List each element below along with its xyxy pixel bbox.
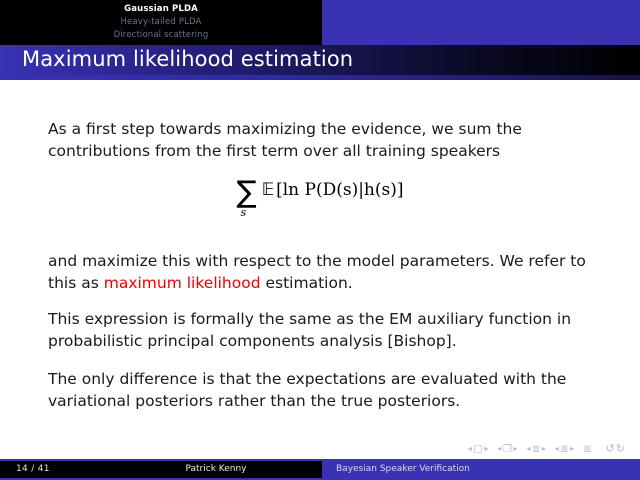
paragraph-maximize: and maximize this with respect to the mo… (48, 250, 588, 294)
next-slide-icon[interactable]: ▸ (484, 444, 488, 453)
nav-section-group[interactable]: ◂≣▸ (555, 440, 574, 459)
prev-slide-icon[interactable]: ◂ (468, 444, 472, 453)
next-frame-icon[interactable]: ▸ (513, 444, 517, 453)
summation-subscript: s (240, 206, 246, 219)
paragraph-em-auxiliary: This expression is formally the same as … (48, 308, 588, 352)
page-title: Maximum likelihood estimation (22, 47, 353, 71)
subsection-icon[interactable]: ≣ (532, 444, 540, 455)
beamer-navigation-symbols[interactable]: ◂□▸ ◂❐▸ ◂≣▸ ◂≣▸ ≣↺↻ (0, 440, 640, 458)
equation-body: [ln P(D(s)|h(s)] (276, 180, 403, 200)
document-icon[interactable]: ≣ (583, 441, 591, 459)
highlight-maximum-likelihood: maximum likelihood (104, 274, 261, 292)
footer-talk-title: Bayesian Speaker Verification (336, 464, 470, 474)
prev-frame-icon[interactable]: ◂ (497, 444, 501, 453)
forward-icon[interactable]: ↻ (616, 440, 626, 458)
back-icon[interactable]: ↺ (606, 440, 616, 458)
nav-slide-group[interactable]: ◂□▸ (468, 440, 488, 459)
sigma-icon: ∑ (236, 180, 256, 206)
nav-item-gaussian-plda[interactable]: Gaussian PLDA (0, 3, 322, 16)
expectation-symbol: 𝔼 (262, 180, 274, 200)
paragraph-maximize-tail: estimation. (261, 274, 353, 292)
equation-expression: ∑ s 𝔼[ln P(D(s)|h(s)] (236, 180, 403, 206)
equation-block: ∑ s 𝔼[ln P(D(s)|h(s)] (0, 180, 640, 206)
summation-operator: ∑ s (236, 180, 256, 206)
prev-section-icon[interactable]: ◂ (555, 444, 559, 453)
prev-subsection-icon[interactable]: ◂ (526, 444, 530, 453)
next-section-icon[interactable]: ▸ (570, 444, 574, 453)
slide-icon[interactable]: □ (473, 444, 482, 455)
next-subsection-icon[interactable]: ▸ (542, 444, 546, 453)
slide-header: Gaussian PLDA Heavy-tailed PLDA Directio… (0, 0, 640, 45)
footer-author: Patrick Kenny (0, 464, 322, 474)
paragraph-intro: As a first step towards maximizing the e… (48, 118, 588, 162)
nav-item-heavy-tailed-plda[interactable]: Heavy-tailed PLDA (0, 16, 322, 29)
paragraph-difference: The only difference is that the expectat… (48, 368, 588, 412)
section-navigation[interactable]: Gaussian PLDA Heavy-tailed PLDA Directio… (0, 0, 322, 45)
section-icon[interactable]: ≣ (560, 444, 568, 455)
nav-item-directional-scattering[interactable]: Directional scattering (0, 29, 322, 42)
nav-subsection-group[interactable]: ◂≣▸ (526, 440, 545, 459)
nav-frame-group[interactable]: ◂❐▸ (497, 440, 517, 459)
slide-content: As a first step towards maximizing the e… (0, 80, 640, 430)
slide-title-bar: Maximum likelihood estimation (0, 45, 640, 75)
frame-icon[interactable]: ❐ (503, 444, 512, 455)
